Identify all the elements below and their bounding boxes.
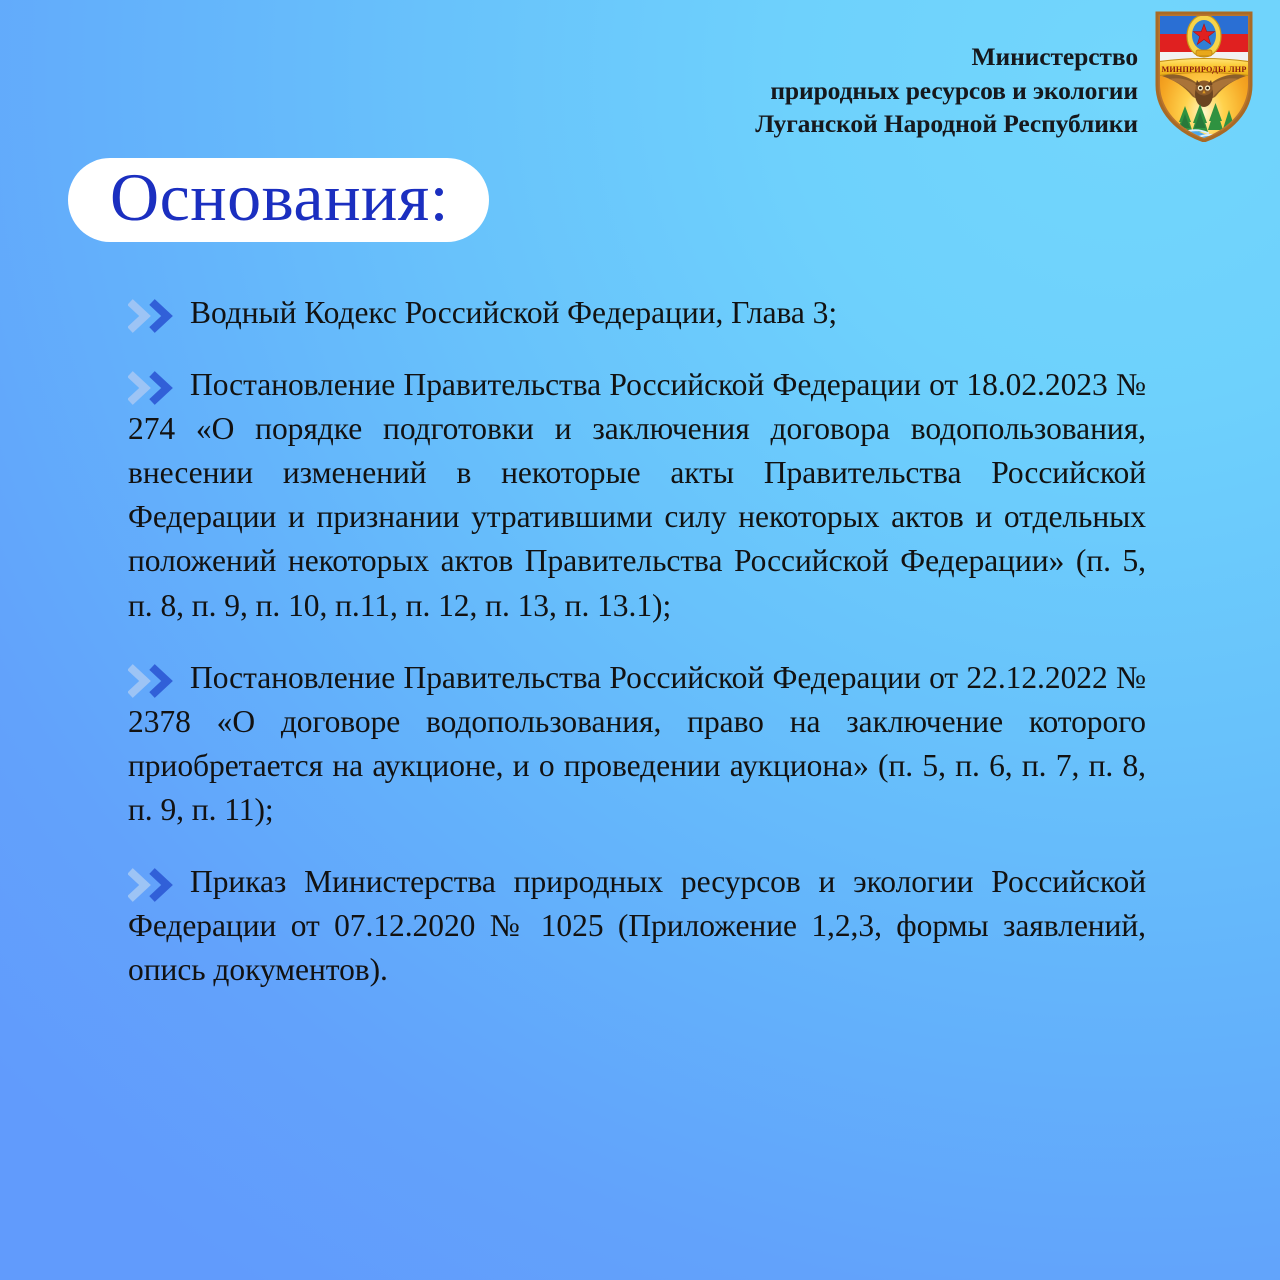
emblem-ribbon-text: МИНПРИРОДЫ ЛНР <box>1161 65 1246 74</box>
ministry-name-line-1: Министерство <box>755 40 1138 74</box>
ministry-name-line-3: Луганской Народной Республики <box>755 107 1138 141</box>
bullet-list: Водный Кодекс Российской Федерации, Глав… <box>128 291 1146 992</box>
slide-canvas: Министерство природных ресурсов и эколог… <box>0 0 1280 1280</box>
list-item-text: Водный Кодекс Российской Федерации, Глав… <box>128 291 1146 335</box>
header: Министерство природных ресурсов и эколог… <box>755 0 1280 142</box>
page-title-pill: Основания: <box>68 158 489 242</box>
list-item-text: Приказ Министерства природных ресурсов и… <box>128 860 1146 992</box>
lnr-ministry-emblem-icon: МИНПРИРОДЫ ЛНР <box>1154 10 1254 142</box>
ministry-name-line-2: природных ресурсов и экологии <box>755 74 1138 108</box>
list-item: Приказ Министерства природных ресурсов и… <box>128 860 1146 992</box>
page-title: Основания: <box>110 163 449 231</box>
ministry-name: Министерство природных ресурсов и эколог… <box>755 34 1138 141</box>
list-item: Водный Кодекс Российской Федерации, Глав… <box>128 291 1146 335</box>
list-item-text: Постановление Правительства Российской Ф… <box>128 363 1146 628</box>
list-item: Постановление Правительства Российской Ф… <box>128 363 1146 628</box>
list-item: Постановление Правительства Российской Ф… <box>128 656 1146 832</box>
list-item-text: Постановление Правительства Российской Ф… <box>128 656 1146 832</box>
